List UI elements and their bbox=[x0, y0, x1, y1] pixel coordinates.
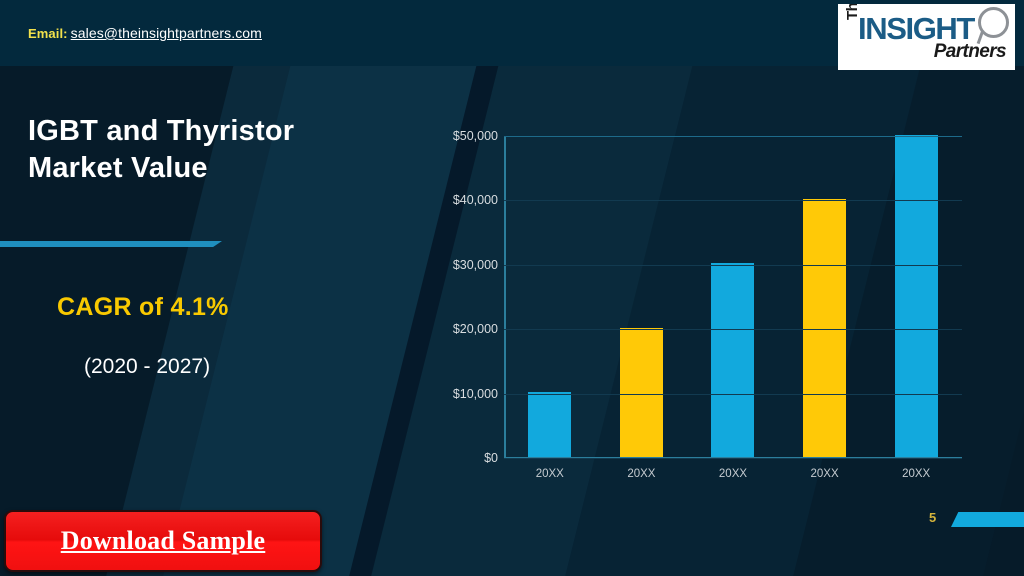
email-label: Email: bbox=[28, 26, 68, 41]
x-axis-tick-label: 20XX bbox=[870, 468, 962, 480]
page-number: 5 bbox=[929, 510, 936, 525]
grid-line bbox=[504, 265, 962, 266]
logo-partners-text: Partners bbox=[934, 41, 1006, 63]
grid-line bbox=[504, 458, 962, 459]
grid-line bbox=[504, 394, 962, 395]
bar-slot bbox=[596, 137, 688, 457]
bar-slot bbox=[687, 137, 779, 457]
bar-slot bbox=[870, 137, 962, 457]
grid-line bbox=[504, 200, 962, 201]
footer-accent-bar bbox=[951, 512, 1024, 527]
company-logo[interactable]: The INSIGHT Partners bbox=[838, 4, 1015, 70]
y-axis-tick-label: $50,000 bbox=[453, 129, 498, 143]
y-axis-tick-label: $20,000 bbox=[453, 322, 498, 336]
y-axis-labels: $0$10,000$20,000$30,000$40,000$50,000 bbox=[432, 128, 498, 458]
y-axis-tick-label: $30,000 bbox=[453, 258, 498, 272]
x-axis-tick-label: 20XX bbox=[779, 468, 871, 480]
forecast-period: (2020 - 2027) bbox=[84, 355, 210, 379]
bar-slot bbox=[504, 137, 596, 457]
title-underline-rule bbox=[0, 241, 222, 247]
slide-canvas: Email:sales@theinsightpartners.com The I… bbox=[0, 0, 1024, 576]
bar-series bbox=[504, 137, 962, 457]
x-axis-tick-label: 20XX bbox=[596, 468, 688, 480]
y-axis-tick-label: $10,000 bbox=[453, 387, 498, 401]
bar[interactable] bbox=[803, 199, 846, 457]
grid-line bbox=[504, 329, 962, 330]
y-axis-tick-label: $40,000 bbox=[453, 193, 498, 207]
download-sample-label: Download Sample bbox=[61, 526, 266, 556]
email-line: Email:sales@theinsightpartners.com bbox=[28, 25, 262, 41]
download-sample-button[interactable]: Download Sample bbox=[4, 510, 322, 572]
y-axis-tick-label: $0 bbox=[484, 451, 498, 465]
bar-chart: $0$10,000$20,000$30,000$40,000$50,000 20… bbox=[432, 128, 972, 488]
bar-slot bbox=[779, 137, 871, 457]
x-axis-labels: 20XX20XX20XX20XX20XX bbox=[504, 468, 962, 480]
bar[interactable] bbox=[528, 392, 571, 456]
grid-line bbox=[504, 136, 962, 137]
page-title: IGBT and Thyristor Market Value bbox=[28, 113, 358, 187]
bar[interactable] bbox=[620, 328, 663, 457]
x-axis-tick-label: 20XX bbox=[504, 468, 596, 480]
cagr-value: CAGR of 4.1% bbox=[57, 293, 229, 322]
plot-area bbox=[504, 136, 962, 458]
bar[interactable] bbox=[711, 263, 754, 456]
x-axis-tick-label: 20XX bbox=[687, 468, 779, 480]
email-link[interactable]: sales@theinsightpartners.com bbox=[71, 25, 262, 41]
bar[interactable] bbox=[895, 135, 938, 457]
